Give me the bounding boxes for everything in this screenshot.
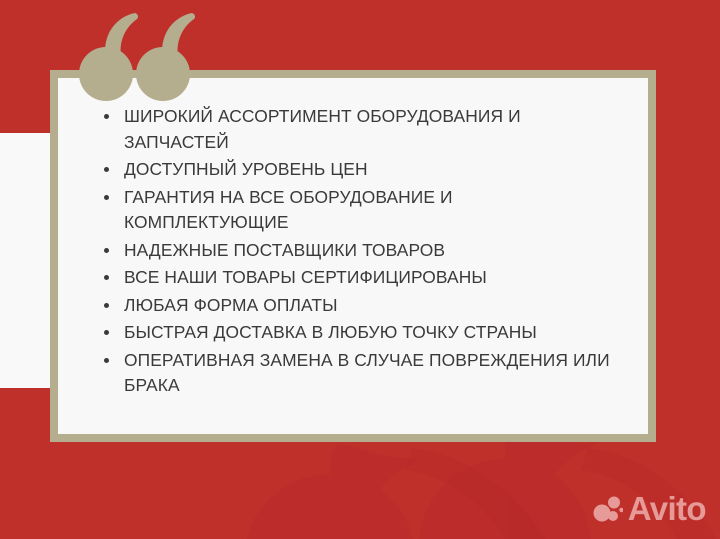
list-item: ШИРОКИЙ АССОРТИМЕНТ ОБОРУДОВАНИЯ И ЗАПЧА… [102,104,618,155]
list-item: ЛЮБАЯ ФОРМА ОПЛАТЫ [102,293,618,319]
list-item: ВСЕ НАШИ ТОВАРЫ СЕРТИФИЦИРОВАНЫ [102,265,618,291]
benefits-list: ШИРОКИЙ АССОРТИМЕНТ ОБОРУДОВАНИЯ И ЗАПЧА… [102,104,618,399]
avito-watermark: Avito [593,492,706,525]
list-item: ГАРАНТИЯ НА ВСЕ ОБОРУДОВАНИЕ И КОМПЛЕКТУ… [102,185,618,236]
list-item: НАДЕЖНЫЕ ПОСТАВЩИКИ ТОВАРОВ [102,238,618,264]
list-item: ОПЕРАТИВНАЯ ЗАМЕНА В СЛУЧАЕ ПОВРЕЖДЕНИЯ … [102,348,618,399]
benefits-card-inner: ШИРОКИЙ АССОРТИМЕНТ ОБОРУДОВАНИЯ И ЗАПЧА… [58,78,648,434]
list-item: БЫСТРАЯ ДОСТАВКА В ЛЮБУЮ ТОЧКУ СТРАНЫ [102,320,618,346]
open-quote-icon [78,12,198,102]
list-item: ДОСТУПНЫЙ УРОВЕНЬ ЦЕН [102,157,618,183]
poster-canvas: ШИРОКИЙ АССОРТИМЕНТ ОБОРУДОВАНИЯ И ЗАПЧА… [0,0,720,539]
benefits-card: ШИРОКИЙ АССОРТИМЕНТ ОБОРУДОВАНИЯ И ЗАПЧА… [50,70,656,442]
avito-wordmark: Avito [628,492,706,525]
avito-dots-icon [593,496,623,522]
